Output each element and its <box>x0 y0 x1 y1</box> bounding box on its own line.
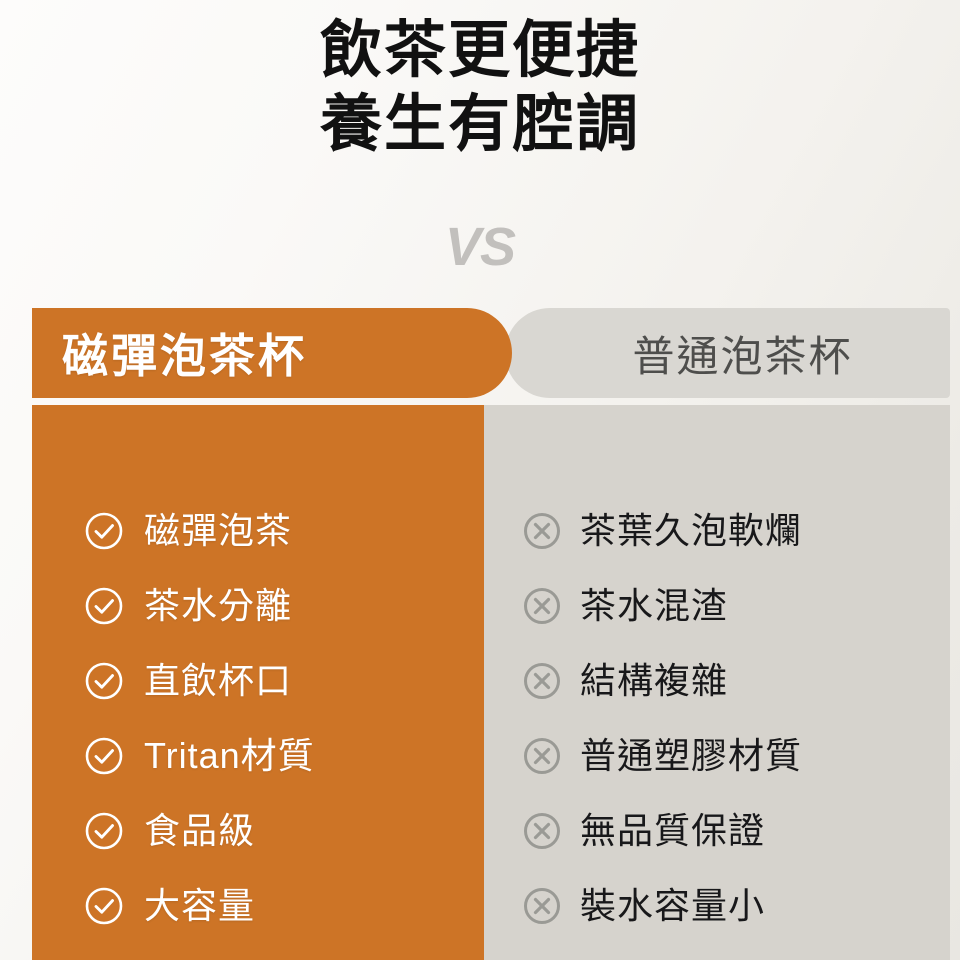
list-item: 裝水容量小 <box>484 868 950 943</box>
tab-ordinary-cup[interactable]: 普通泡茶杯 <box>505 308 950 398</box>
headline-line-1: 飲茶更便捷 <box>0 18 960 84</box>
page-title: 飲茶更便捷 養生有腔調 <box>0 18 960 158</box>
circle-x-icon <box>522 661 562 701</box>
list-item-label: 裝水容量小 <box>580 886 765 926</box>
list-item: 茶水分離 <box>32 568 484 643</box>
panel-ordinary-cup: 茶葉久泡軟爛 茶水混渣 <box>484 405 950 960</box>
circle-check-icon <box>84 511 124 551</box>
con-feature-list: 茶葉久泡軟爛 茶水混渣 <box>484 493 950 943</box>
list-item: 普通塑膠材質 <box>484 718 950 793</box>
list-item-label: 結構複雜 <box>580 661 728 701</box>
list-item-label: 茶葉久泡軟爛 <box>580 511 802 551</box>
list-item: Tritan材質 <box>32 718 484 793</box>
list-item-label: 無品質保證 <box>580 811 765 851</box>
list-item: 磁彈泡茶 <box>32 493 484 568</box>
comparison-tab-row: 普通泡茶杯 磁彈泡茶杯 <box>32 308 950 398</box>
tab-magnetic-cup-label: 磁彈泡茶杯 <box>62 320 307 386</box>
circle-x-icon <box>522 586 562 626</box>
list-item-label: 磁彈泡茶 <box>144 511 292 551</box>
list-item-label: Tritan材質 <box>144 736 315 776</box>
list-item-label: 茶水混渣 <box>580 586 728 626</box>
comparison-poster: 飲茶更便捷 養生有腔調 VS 普通泡茶杯 磁彈泡茶杯 磁彈泡茶 <box>0 0 960 960</box>
vs-badge: VS <box>0 218 960 276</box>
list-item-label: 大容量 <box>144 886 255 926</box>
circle-check-icon <box>84 811 124 851</box>
comparison-panels: 磁彈泡茶 茶水分離 <box>32 405 950 960</box>
circle-check-icon <box>84 886 124 926</box>
circle-x-icon <box>522 886 562 926</box>
circle-check-icon <box>84 661 124 701</box>
pro-feature-list: 磁彈泡茶 茶水分離 <box>32 493 484 943</box>
headline-line-2: 養生有腔調 <box>0 92 960 158</box>
circle-x-icon <box>522 511 562 551</box>
list-item-label: 普通塑膠材質 <box>580 736 802 776</box>
list-item: 食品級 <box>32 793 484 868</box>
circle-check-icon <box>84 586 124 626</box>
list-item-label: 茶水分離 <box>144 586 292 626</box>
panel-magnetic-cup: 磁彈泡茶 茶水分離 <box>32 405 484 960</box>
list-item-label: 直飲杯口 <box>144 661 292 701</box>
tab-magnetic-cup[interactable]: 磁彈泡茶杯 <box>32 308 512 398</box>
list-item: 茶葉久泡軟爛 <box>484 493 950 568</box>
list-item-label: 食品級 <box>144 811 255 851</box>
list-item: 大容量 <box>32 868 484 943</box>
list-item: 茶水混渣 <box>484 568 950 643</box>
list-item: 無品質保證 <box>484 793 950 868</box>
circle-x-icon <box>522 811 562 851</box>
list-item: 結構複雜 <box>484 643 950 718</box>
circle-check-icon <box>84 736 124 776</box>
tab-ordinary-cup-label: 普通泡茶杯 <box>632 323 852 384</box>
list-item: 直飲杯口 <box>32 643 484 718</box>
circle-x-icon <box>522 736 562 776</box>
